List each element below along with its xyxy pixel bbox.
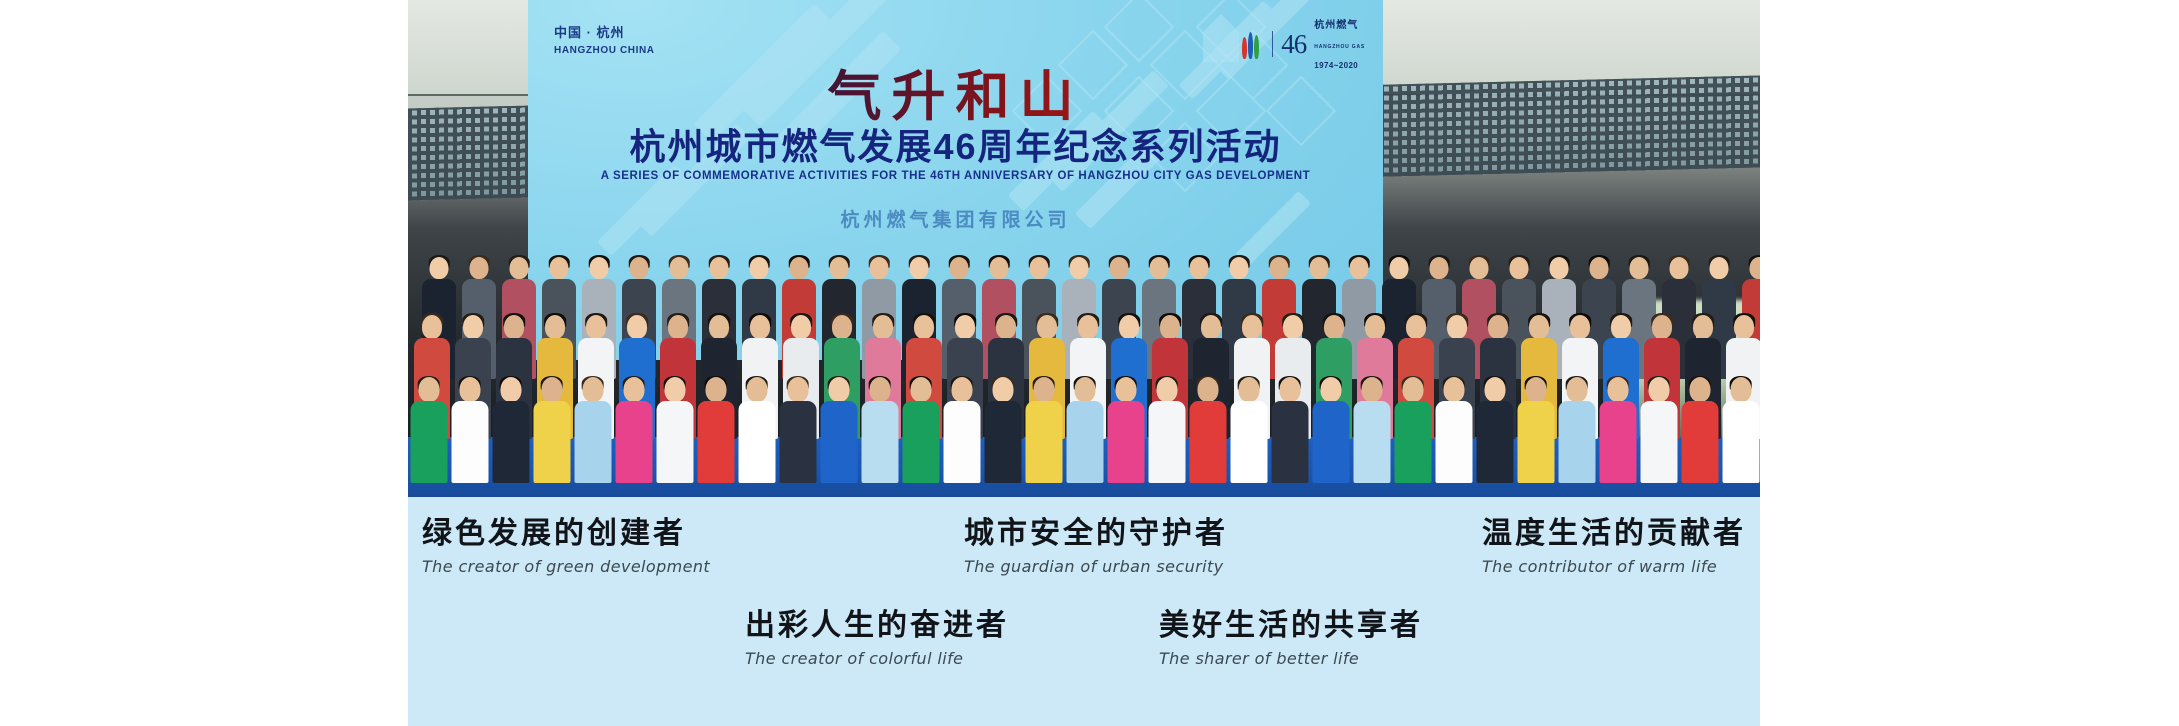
person-head xyxy=(1689,377,1710,402)
person-head xyxy=(955,315,975,339)
person-head xyxy=(1156,377,1177,402)
person-head xyxy=(582,377,603,402)
person xyxy=(779,371,816,483)
person-head xyxy=(1529,315,1549,339)
person-head xyxy=(787,377,808,402)
person-head xyxy=(1115,377,1136,402)
person-head xyxy=(1710,257,1729,279)
person-head xyxy=(1320,377,1341,402)
person-torso xyxy=(1558,401,1595,483)
slogan-urban-security: 城市安全的守护者 The guardian of urban security xyxy=(964,517,1228,576)
person-torso xyxy=(1271,401,1308,483)
person-head xyxy=(470,257,489,279)
person-torso xyxy=(943,401,980,483)
person xyxy=(656,371,693,483)
person-torso xyxy=(533,401,570,483)
person-torso xyxy=(1312,401,1349,483)
person-head xyxy=(1750,257,1761,279)
person-head xyxy=(914,315,934,339)
person-head xyxy=(1566,377,1587,402)
person-head xyxy=(1734,315,1754,339)
person-head xyxy=(1150,257,1169,279)
person-head xyxy=(1197,377,1218,402)
person-head xyxy=(992,377,1013,402)
person xyxy=(533,371,570,483)
person-torso xyxy=(1353,401,1390,483)
slogan-en: The creator of green development xyxy=(422,557,710,576)
person-head xyxy=(1324,315,1344,339)
brand-name-cn: 杭州燃气 xyxy=(1314,20,1358,31)
person-head xyxy=(1443,377,1464,402)
person-head xyxy=(910,377,931,402)
person-head xyxy=(1119,315,1139,339)
person-torso xyxy=(1681,401,1718,483)
person-head xyxy=(590,257,609,279)
person-head xyxy=(627,315,647,339)
person xyxy=(1681,371,1718,483)
crowd-of-attendees xyxy=(408,167,1760,497)
person xyxy=(410,371,447,483)
person-head xyxy=(1283,315,1303,339)
person-head xyxy=(630,257,649,279)
person-head xyxy=(1361,377,1382,402)
person-head xyxy=(1279,377,1300,402)
person-head xyxy=(950,257,969,279)
group-photo: 中国 · 杭州 HANGZHOU CHINA 46 杭州燃气 HANGZHOU … xyxy=(408,0,1760,497)
slogan-en: The contributor of warm life xyxy=(1482,557,1746,576)
person-head xyxy=(510,257,529,279)
person-head xyxy=(1390,257,1409,279)
person-head xyxy=(586,315,606,339)
person-torso xyxy=(1476,401,1513,483)
person-head xyxy=(1607,377,1628,402)
person-head xyxy=(1470,257,1489,279)
person-torso xyxy=(861,401,898,483)
slogan-green-development: 绿色发展的创建者 The creator of green developmen… xyxy=(422,517,710,576)
person-head xyxy=(709,315,729,339)
person xyxy=(1230,371,1267,483)
slogan-warm-life: 温度生活的贡献者 The contributor of warm life xyxy=(1482,517,1746,576)
person-head xyxy=(1201,315,1221,339)
person-torso xyxy=(1394,401,1431,483)
slogan-cn: 绿色发展的创建者 xyxy=(422,517,710,550)
slogan-colorful-life: 出彩人生的奋进者 The creator of colorful life xyxy=(745,609,1009,668)
person-torso xyxy=(820,401,857,483)
person xyxy=(1517,371,1554,483)
person-head xyxy=(1030,257,1049,279)
person-head xyxy=(504,315,524,339)
crowd-row-front xyxy=(408,371,1760,483)
person xyxy=(615,371,652,483)
person-head xyxy=(664,377,685,402)
person-head xyxy=(422,315,442,339)
person-head xyxy=(828,377,849,402)
person-head xyxy=(541,377,562,402)
person-head xyxy=(870,257,889,279)
content-panel: 中国 · 杭州 HANGZHOU CHINA 46 杭州燃气 HANGZHOU … xyxy=(408,0,1760,726)
person-head xyxy=(1550,257,1569,279)
person xyxy=(1599,371,1636,483)
person-torso xyxy=(1148,401,1185,483)
person xyxy=(1722,371,1759,483)
slogan-row-2: 出彩人生的奋进者 The creator of colorful life 美好… xyxy=(408,609,1760,668)
person xyxy=(451,371,488,483)
person xyxy=(1476,371,1513,483)
person-head xyxy=(1630,257,1649,279)
person-torso xyxy=(574,401,611,483)
person-head xyxy=(1693,315,1713,339)
slogan-panel: 绿色发展的创建者 The creator of green developmen… xyxy=(408,497,1760,726)
person-torso xyxy=(984,401,1021,483)
person xyxy=(902,371,939,483)
person xyxy=(492,371,529,483)
person-torso xyxy=(1189,401,1226,483)
person xyxy=(1353,371,1390,483)
person-head xyxy=(710,257,729,279)
person-head xyxy=(830,257,849,279)
person-torso xyxy=(451,401,488,483)
person-head xyxy=(791,315,811,339)
person-head xyxy=(951,377,972,402)
person-torso xyxy=(779,401,816,483)
person-head xyxy=(545,315,565,339)
person-torso xyxy=(1230,401,1267,483)
person-torso xyxy=(1025,401,1062,483)
person-torso xyxy=(1066,401,1103,483)
person xyxy=(943,371,980,483)
person-head xyxy=(1078,315,1098,339)
person-head xyxy=(1648,377,1669,402)
slogan-cn: 出彩人生的奋进者 xyxy=(745,609,1009,642)
person-torso xyxy=(1722,401,1759,483)
person-head xyxy=(873,315,893,339)
person xyxy=(1312,371,1349,483)
person-head xyxy=(1074,377,1095,402)
person xyxy=(984,371,1021,483)
person-head xyxy=(463,315,483,339)
person xyxy=(1066,371,1103,483)
person-head xyxy=(750,315,770,339)
person xyxy=(1189,371,1226,483)
person xyxy=(1394,371,1431,483)
slogan-cn: 城市安全的守护者 xyxy=(964,517,1228,550)
slogan-cn: 美好生活的共享者 xyxy=(1159,609,1423,642)
person xyxy=(1025,371,1062,483)
person-head xyxy=(1430,257,1449,279)
brand-name-en: HANGZHOU GAS xyxy=(1314,44,1365,50)
person-torso xyxy=(1435,401,1472,483)
person-torso xyxy=(492,401,529,483)
person xyxy=(820,371,857,483)
person-head xyxy=(1611,315,1631,339)
person-head xyxy=(750,257,769,279)
person-torso xyxy=(656,401,693,483)
person-torso xyxy=(1599,401,1636,483)
person-head xyxy=(869,377,890,402)
person xyxy=(574,371,611,483)
person-head xyxy=(746,377,767,402)
person-head xyxy=(1525,377,1546,402)
person xyxy=(738,371,775,483)
person-head xyxy=(910,257,929,279)
event-title: 杭州城市燃气发展46周年纪念系列活动 xyxy=(528,118,1383,170)
person-torso xyxy=(1107,401,1144,483)
person-head xyxy=(670,257,689,279)
slogan-row-1: 绿色发展的创建者 The creator of green developmen… xyxy=(408,517,1760,576)
person-head xyxy=(996,315,1016,339)
person xyxy=(1148,371,1185,483)
person-head xyxy=(1590,257,1609,279)
person-head xyxy=(1160,315,1180,339)
person-head xyxy=(832,315,852,339)
page-root: 中国 · 杭州 HANGZHOU CHINA 46 杭州燃气 HANGZHOU … xyxy=(0,0,2179,726)
slogan-better-life: 美好生活的共享者 The sharer of better life xyxy=(1159,609,1423,668)
person xyxy=(1271,371,1308,483)
person-head xyxy=(1190,257,1209,279)
slogan-cn: 温度生活的贡献者 xyxy=(1482,517,1746,550)
person-head xyxy=(1242,315,1262,339)
person-head xyxy=(418,377,439,402)
person-head xyxy=(500,377,521,402)
person-torso xyxy=(615,401,652,483)
person-head xyxy=(1230,257,1249,279)
slogan-en: The guardian of urban security xyxy=(964,557,1228,576)
slogan-en: The creator of colorful life xyxy=(745,649,1009,668)
person-torso xyxy=(697,401,734,483)
person-head xyxy=(1510,257,1529,279)
person xyxy=(1558,371,1595,483)
person xyxy=(697,371,734,483)
person-torso xyxy=(410,401,447,483)
person-head xyxy=(1110,257,1129,279)
person-torso xyxy=(1517,401,1554,483)
person-torso xyxy=(738,401,775,483)
person-head xyxy=(1033,377,1054,402)
person-head xyxy=(1037,315,1057,339)
person-head xyxy=(1310,257,1329,279)
person xyxy=(1435,371,1472,483)
person-head xyxy=(1350,257,1369,279)
person-head xyxy=(459,377,480,402)
person xyxy=(1640,371,1677,483)
person-head xyxy=(1670,257,1689,279)
person-head xyxy=(1406,315,1426,339)
person-head xyxy=(623,377,644,402)
locale-cn: 中国 · 杭州 xyxy=(554,24,655,42)
person-head xyxy=(1652,315,1672,339)
person-head xyxy=(430,257,449,279)
person-head xyxy=(705,377,726,402)
person-head xyxy=(1570,315,1590,339)
slogan-en: The sharer of better life xyxy=(1159,649,1423,668)
person-torso xyxy=(1640,401,1677,483)
person-torso xyxy=(902,401,939,483)
person xyxy=(1107,371,1144,483)
person-head xyxy=(1402,377,1423,402)
person-head xyxy=(1365,315,1385,339)
person-head xyxy=(990,257,1009,279)
person-head xyxy=(1488,315,1508,339)
person-head xyxy=(668,315,688,339)
person-head xyxy=(1070,257,1089,279)
person-head xyxy=(1270,257,1289,279)
person-head xyxy=(790,257,809,279)
person-head xyxy=(1447,315,1467,339)
person-head xyxy=(550,257,569,279)
person-head xyxy=(1484,377,1505,402)
person xyxy=(861,371,898,483)
person-head xyxy=(1238,377,1259,402)
person-head xyxy=(1730,377,1751,402)
